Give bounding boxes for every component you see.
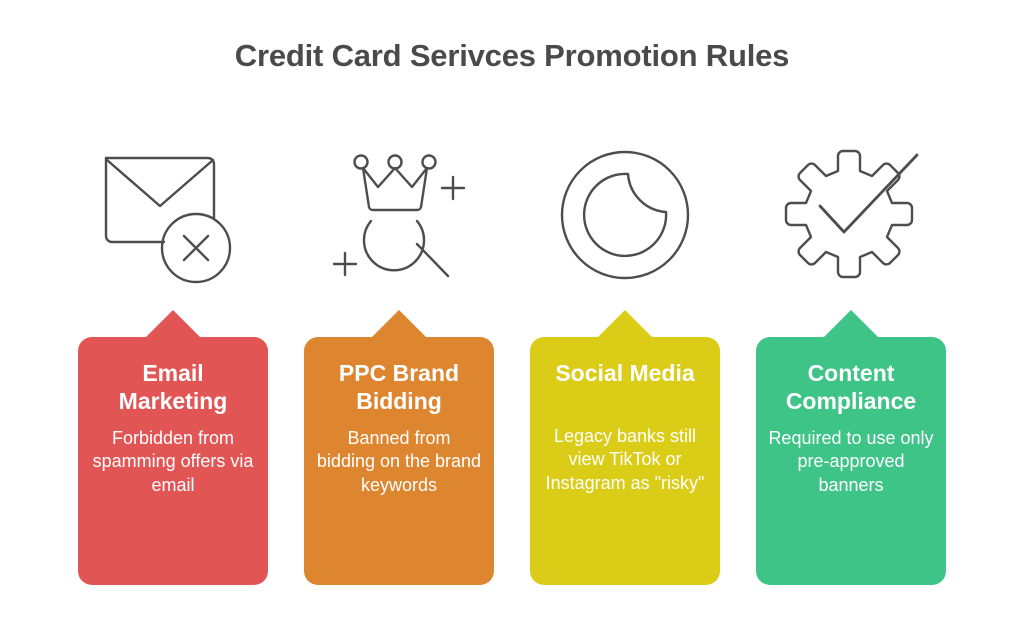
- card-body: Social Media Legacy banks still view Tik…: [530, 337, 720, 585]
- crown-magnifier-icon: [304, 120, 494, 310]
- rule-card-social-media[interactable]: Social Media Legacy banks still view Tik…: [530, 310, 720, 585]
- rule-column-ppc-brand-bidding: PPC Brand Bidding Banned from bidding on…: [304, 120, 494, 585]
- card-heading: Social Media: [542, 359, 708, 387]
- rule-card-email-marketing[interactable]: Email Marketing Forbidden from spamming …: [78, 310, 268, 585]
- card-body: Content Compliance Required to use only …: [756, 337, 946, 585]
- card-description: Forbidden from spamming offers via email: [90, 427, 256, 497]
- card-pointer-arrow: [823, 310, 879, 338]
- card-pointer-arrow: [597, 310, 653, 338]
- rule-card-ppc-brand-bidding[interactable]: PPC Brand Bidding Banned from bidding on…: [304, 310, 494, 585]
- card-description: Banned from bidding on the brand keyword…: [316, 427, 482, 497]
- card-description: Legacy banks still view TikTok or Instag…: [542, 425, 708, 495]
- rule-card-content-compliance[interactable]: Content Compliance Required to use only …: [756, 310, 946, 585]
- gear-checkmark-icon: [756, 120, 946, 310]
- card-pointer-arrow: [145, 310, 201, 338]
- card-heading: Email Marketing: [90, 359, 256, 415]
- rules-card-row: Email Marketing Forbidden from spamming …: [78, 120, 946, 585]
- crescent-circle-icon: [530, 120, 720, 310]
- rule-column-social-media: Social Media Legacy banks still view Tik…: [530, 120, 720, 585]
- email-blocked-icon: [78, 120, 268, 310]
- card-description: Required to use only pre-approved banner…: [768, 427, 934, 497]
- card-pointer-arrow: [371, 310, 427, 338]
- card-body: Email Marketing Forbidden from spamming …: [78, 337, 268, 585]
- rule-column-content-compliance: Content Compliance Required to use only …: [756, 120, 946, 585]
- card-heading: PPC Brand Bidding: [316, 359, 482, 415]
- page-title: Credit Card Serivces Promotion Rules: [0, 38, 1024, 74]
- card-body: PPC Brand Bidding Banned from bidding on…: [304, 337, 494, 585]
- card-heading: Content Compliance: [768, 359, 934, 415]
- rule-column-email-marketing: Email Marketing Forbidden from spamming …: [78, 120, 268, 585]
